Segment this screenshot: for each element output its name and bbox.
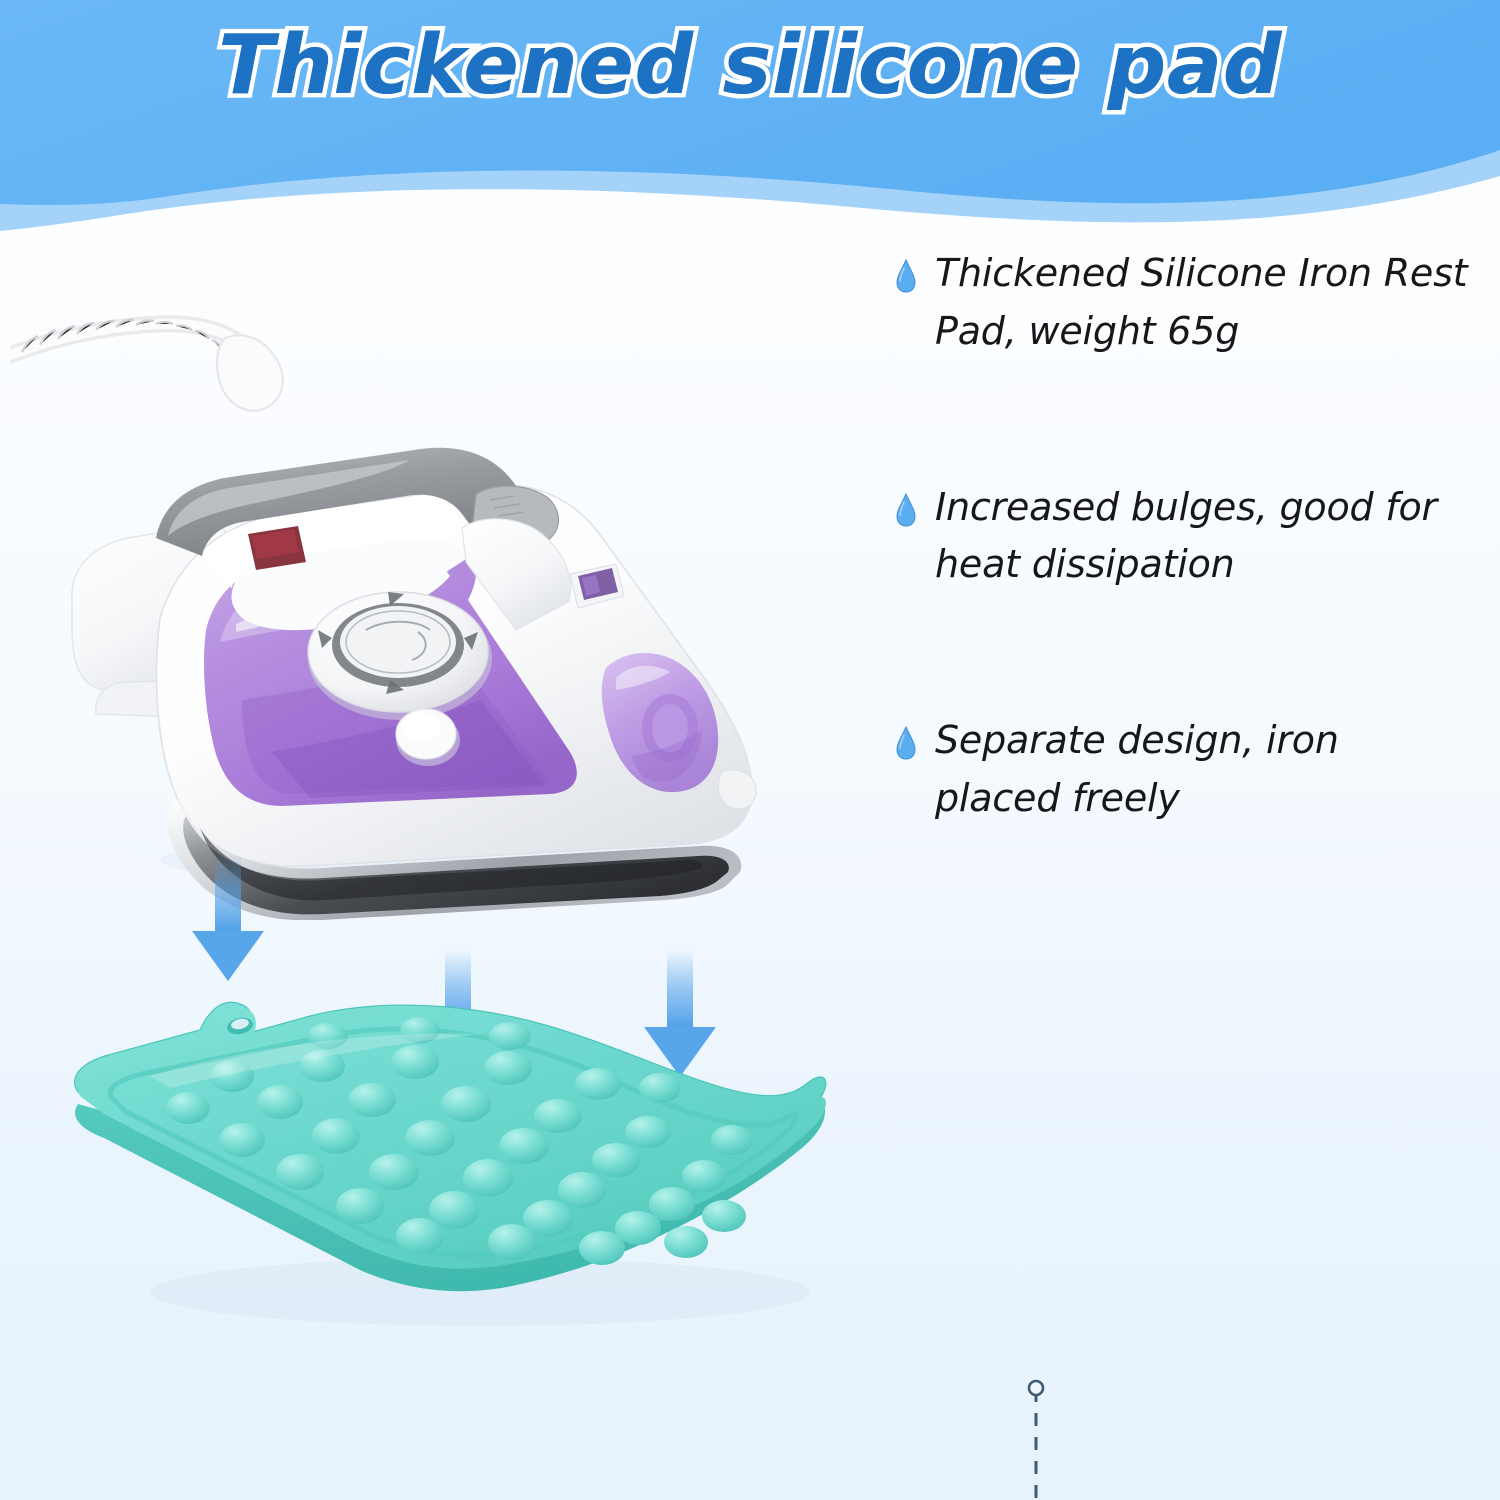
power-cord bbox=[10, 320, 283, 411]
water-drop-icon bbox=[895, 493, 917, 527]
feature-text: Thickened Silicone Iron Rest Pad, weight… bbox=[935, 245, 1475, 361]
temperature-dial bbox=[308, 592, 492, 720]
down-arrow bbox=[192, 855, 264, 981]
cord-boot bbox=[217, 335, 283, 410]
feature-item: Separate design, iron placed freely bbox=[895, 712, 1475, 828]
dimension-callout bbox=[840, 1370, 1200, 1500]
water-drop-icon bbox=[895, 726, 917, 760]
feature-text: Separate design, iron placed freely bbox=[935, 712, 1475, 828]
silicone-pad-image bbox=[60, 980, 890, 1340]
feature-text: Increased bulges, good for heat dissipat… bbox=[935, 479, 1475, 595]
feature-item: Thickened Silicone Iron Rest Pad, weight… bbox=[895, 245, 1475, 361]
page-title: Thickened silicone pad bbox=[0, 18, 1500, 113]
infographic-page: Thickened silicone pad Thickened silicon… bbox=[0, 0, 1500, 1500]
callout-endpoint-top bbox=[1029, 1381, 1043, 1395]
steam-iron-image bbox=[10, 300, 840, 920]
header-banner: Thickened silicone pad Thickened silicon… bbox=[0, 0, 1500, 240]
feature-item: Increased bulges, good for heat dissipat… bbox=[895, 479, 1475, 595]
feature-list: Thickened Silicone Iron Rest Pad, weight… bbox=[895, 245, 1475, 828]
water-drop-icon bbox=[895, 259, 917, 293]
